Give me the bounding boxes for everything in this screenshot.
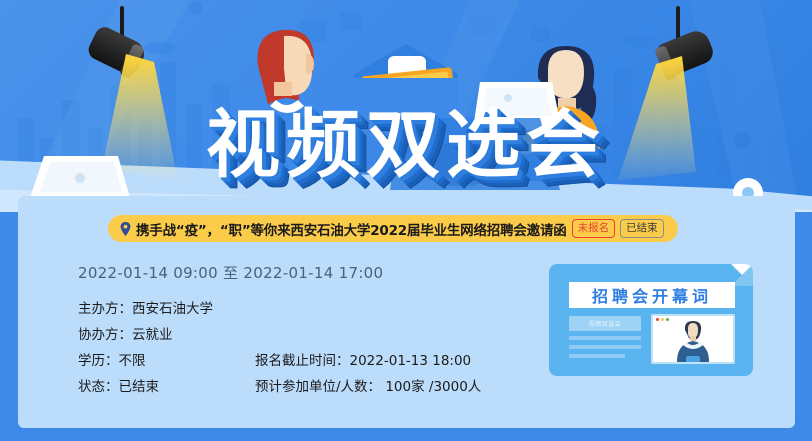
video-card-thumbnail: [651, 314, 735, 364]
event-title-banner[interactable]: 携手战“疫”，“职”等你来西安石油大学2022届毕业生网络招聘会邀请函 未报名 …: [108, 215, 678, 242]
video-card-line: [569, 345, 641, 349]
video-card-title: 招聘会开幕词: [592, 283, 712, 307]
presenter-illustration: [653, 320, 733, 364]
info-status: 状态：已结束: [78, 375, 255, 395]
info-education: 学历：不限: [78, 349, 255, 369]
video-card-line: [569, 354, 625, 358]
location-pin-icon: [120, 222, 131, 236]
video-card-chip: 视频双选会: [569, 316, 641, 331]
info-expected-attendance: 预计参加单位/人数： 100家 /3000人: [255, 375, 718, 395]
event-schedule: 2022-01-14 09:00 至 2022-01-14 17:00: [78, 262, 383, 283]
video-card-title-box: 招聘会开幕词: [569, 282, 735, 308]
info-organizer: 主办方：西安石油大学: [78, 297, 255, 317]
info-co-organizer: 协办方：云就业: [78, 323, 255, 343]
video-card-line: [569, 336, 641, 340]
event-detail-page: offer: [0, 0, 812, 441]
status-badge-registration: 未报名: [572, 219, 616, 239]
hero-banner: offer: [0, 0, 812, 212]
status-badge-ended: 已结束: [620, 219, 664, 239]
opening-speech-video-card[interactable]: 招聘会开幕词 视频双选会: [549, 264, 753, 376]
event-title-text: 携手战“疫”，“职”等你来西安石油大学2022届毕业生网络招聘会邀请函: [136, 219, 567, 239]
video-card-sidebar: 视频双选会: [569, 316, 641, 358]
page-title: 视频双选会: [0, 108, 812, 182]
video-card-chip-label: 视频双选会: [589, 319, 622, 328]
